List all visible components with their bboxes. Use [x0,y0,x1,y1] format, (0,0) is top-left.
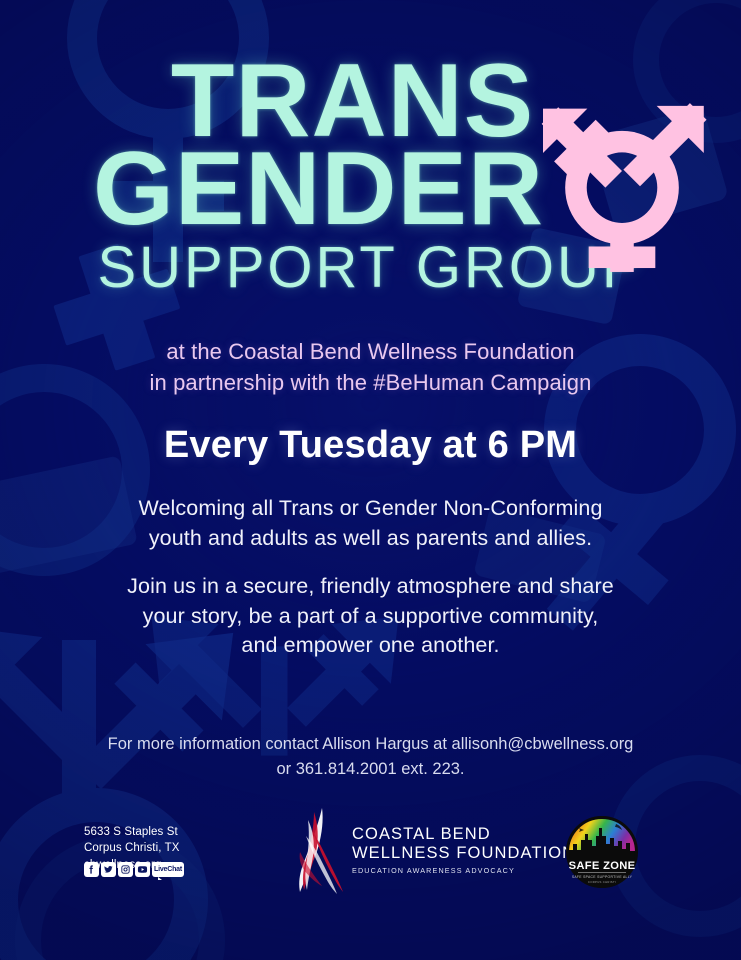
body-paragraph-1: Welcoming all Trans or Gender Non-Confor… [0,494,741,553]
cbwf-logo-text: COASTAL BEND WELLNESS FOUNDATION EDUCATI… [352,825,575,875]
body-paragraph-2: Join us in a secure, friendly atmosphere… [0,572,741,661]
contact-line-1: For more information contact Allison Har… [0,732,741,757]
coastal-bend-wellness-foundation-logo: COASTAL BEND WELLNESS FOUNDATION EDUCATI… [288,806,500,894]
address-line-1: 5633 S Staples St [84,824,180,840]
twitter-icon[interactable] [101,862,116,877]
instagram-icon[interactable] [118,862,133,877]
body-paragraph-2-line-2: your story, be a part of a supportive co… [0,602,741,632]
body-paragraph-2-line-1: Join us in a secure, friendly atmosphere… [0,572,741,602]
svg-text:SAFE SPACE SUPPORTIVE ALLY: SAFE SPACE SUPPORTIVE ALLY [572,875,633,879]
livechat-icon[interactable]: LiveChat [152,862,184,877]
body-paragraph-2-line-3: and empower one another. [0,631,741,661]
subheading-block: at the Coastal Bend Wellness Foundation … [0,336,741,398]
poster-content: TRANS GENDER SUPPORT GROUP [0,0,741,960]
body-paragraph-1-line-1: Welcoming all Trans or Gender Non-Confor… [0,494,741,524]
subheading-line-2: in partnership with the #BeHuman Campaig… [0,367,741,398]
subheading-line-1: at the Coastal Bend Wellness Foundation [0,336,741,367]
social-links-row: LiveChat [84,862,184,877]
facebook-icon[interactable] [84,862,99,877]
footer: 5633 S Staples St Corpus Christi, TX cbw… [0,800,741,900]
meeting-time-heading: Every Tuesday at 6 PM [0,424,741,467]
cbwf-feather-mark-icon [288,806,348,894]
address-line-2: Corpus Christi, TX [84,840,180,856]
safe-zone-badge-icon: SAFE ZONE SAFE SPACE SUPPORTIVE ALLY COR… [566,816,638,888]
svg-text:CORPUS CHRISTI: CORPUS CHRISTI [588,880,616,884]
body-paragraph-1-line-2: youth and adults as well as parents and … [0,524,741,554]
cbwf-logo-line-2: WELLNESS FOUNDATION [352,844,575,863]
svg-text:SAFE ZONE: SAFE ZONE [569,860,636,872]
contact-line-2: or 361.814.2001 ext. 223. [0,757,741,782]
transgender-symbol-icon [524,72,720,272]
contact-block: For more information contact Allison Har… [0,732,741,782]
youtube-icon[interactable] [135,862,150,877]
cbwf-logo-tagline: EDUCATION AWARENESS ADVOCACY [352,866,575,875]
poster-root: TRANS GENDER SUPPORT GROUP [0,0,741,960]
cbwf-logo-line-1: COASTAL BEND [352,825,575,844]
